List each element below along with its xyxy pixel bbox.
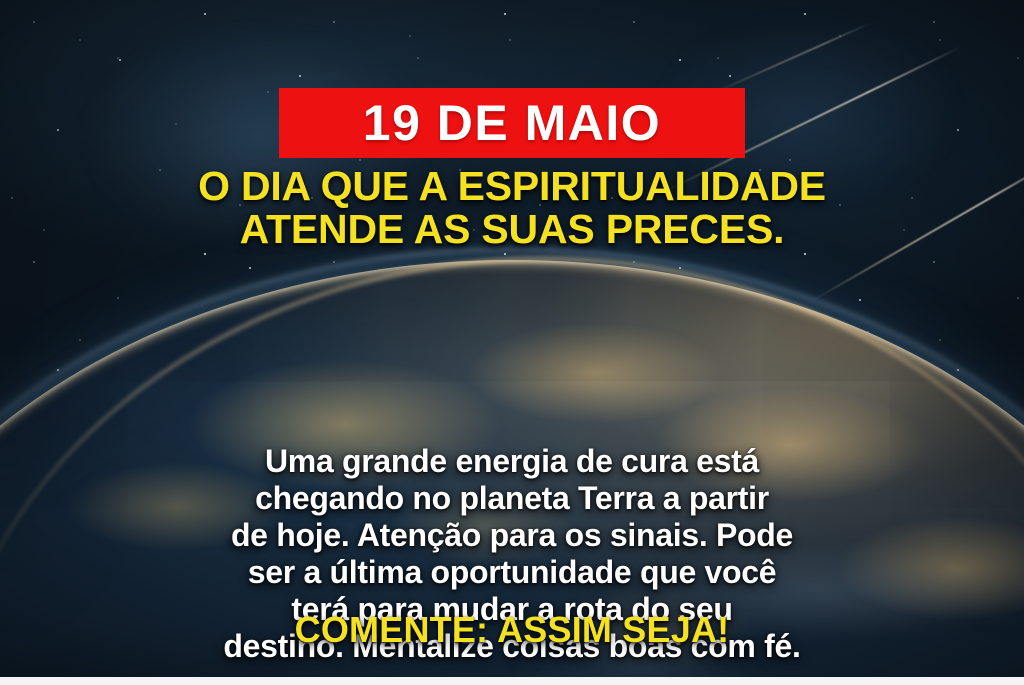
poster-content: 19 DE MAIO O DIA QUE A ESPIRITUALIDADE A… — [0, 0, 1024, 685]
poster-canvas: 19 DE MAIO O DIA QUE A ESPIRITUALIDADE A… — [0, 0, 1024, 685]
headline: O DIA QUE A ESPIRITUALIDADE ATENDE AS SU… — [62, 165, 962, 252]
date-banner-text: 19 DE MAIO — [363, 98, 661, 148]
date-banner: 19 DE MAIO — [279, 88, 745, 158]
body-line-3: de hoje. Atenção para os sinais. Pode — [67, 517, 957, 554]
call-to-action-text: COMENTE: ASSIM SEJA! — [62, 612, 962, 648]
body-line-2: chegando no planeta Terra a partir — [67, 480, 957, 517]
bottom-strip — [0, 677, 1024, 685]
headline-line-2: ATENDE AS SUAS PRECES. — [62, 208, 962, 251]
headline-line-1: O DIA QUE A ESPIRITUALIDADE — [198, 163, 826, 209]
body-line-1: Uma grande energia de cura está — [67, 443, 957, 480]
body-line-4: ser a última oportunidade que você — [67, 554, 957, 591]
